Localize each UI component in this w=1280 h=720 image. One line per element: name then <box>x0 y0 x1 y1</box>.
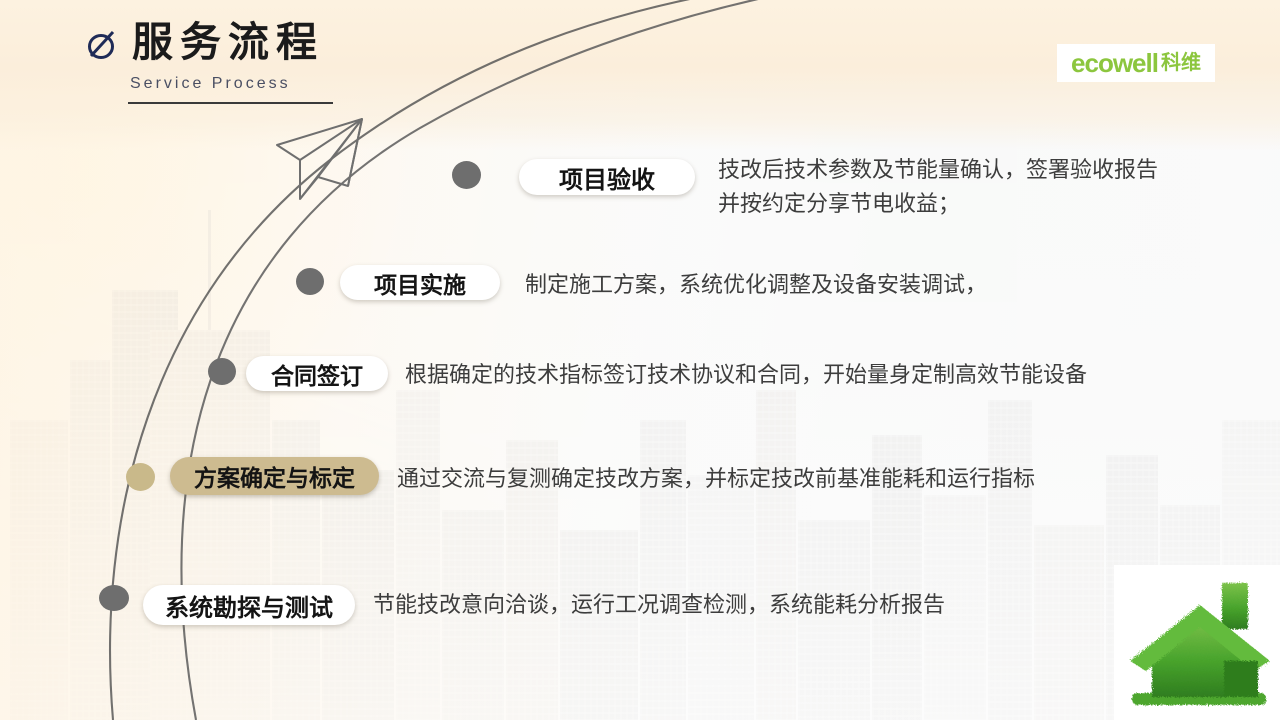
slide-header: 服务流程 Service Process <box>84 22 333 104</box>
step-dot-2[interactable] <box>296 268 324 295</box>
green-grass-house-image <box>1114 565 1280 720</box>
step-desc-5-line-1: 节能技改意向洽谈，运行工况调查检测，系统能耗分析报告 <box>373 588 945 622</box>
logo-text-en: ecowell <box>1071 50 1158 76</box>
step-pill-3[interactable]: 合同签订 <box>246 356 388 391</box>
title-underline <box>128 102 333 104</box>
step-dot-3[interactable] <box>208 358 236 385</box>
page-title: 服务流程 <box>132 22 324 63</box>
step-desc-5: 节能技改意向洽谈，运行工况调查检测，系统能耗分析报告 <box>373 588 945 622</box>
step-label-3: 合同签订 <box>271 357 363 391</box>
step-label-4: 方案确定与标定 <box>194 459 355 493</box>
step-desc-1-line-2: 并按约定分享节电收益； <box>718 187 1158 221</box>
step-desc-1: 技改后技术参数及节能量确认，签署验收报告 并按约定分享节电收益； <box>718 153 1158 221</box>
step-pill-4[interactable]: 方案确定与标定 <box>170 457 379 495</box>
step-dot-1[interactable] <box>452 161 481 189</box>
step-desc-4: 通过交流与复测确定技改方案，并标定技改前基准能耗和运行指标 <box>397 462 1035 496</box>
step-dot-5[interactable] <box>99 585 129 611</box>
page-subtitle: Service Process <box>130 75 333 93</box>
step-label-2: 项目实施 <box>374 266 466 300</box>
step-label-1: 项目验收 <box>559 160 655 195</box>
slide-canvas: 服务流程 Service Process ecowell 科维 项目验收 技改后… <box>0 0 1280 720</box>
step-pill-2[interactable]: 项目实施 <box>340 265 500 300</box>
step-dot-4[interactable] <box>126 463 155 491</box>
step-pill-1[interactable]: 项目验收 <box>519 159 695 195</box>
step-desc-2-line-1: 制定施工方案，系统优化调整及设备安装调试， <box>525 268 987 302</box>
step-desc-2: 制定施工方案，系统优化调整及设备安装调试， <box>525 268 987 302</box>
step-desc-4-line-1: 通过交流与复测确定技改方案，并标定技改前基准能耗和运行指标 <box>397 462 1035 496</box>
paper-plane-icon <box>277 119 362 199</box>
step-desc-3: 根据确定的技术指标签订技术协议和合同，开始量身定制高效节能设备 <box>405 358 1087 392</box>
brand-logo: ecowell 科维 <box>1057 44 1215 82</box>
step-pill-5[interactable]: 系统勘探与测试 <box>143 585 355 625</box>
step-desc-3-line-1: 根据确定的技术指标签订技术协议和合同，开始量身定制高效节能设备 <box>405 358 1087 392</box>
slashed-circle-icon <box>84 27 118 61</box>
step-desc-1-line-1: 技改后技术参数及节能量确认，签署验收报告 <box>718 153 1158 187</box>
logo-text-cn: 科维 <box>1161 53 1201 73</box>
step-label-5: 系统勘探与测试 <box>165 588 333 623</box>
